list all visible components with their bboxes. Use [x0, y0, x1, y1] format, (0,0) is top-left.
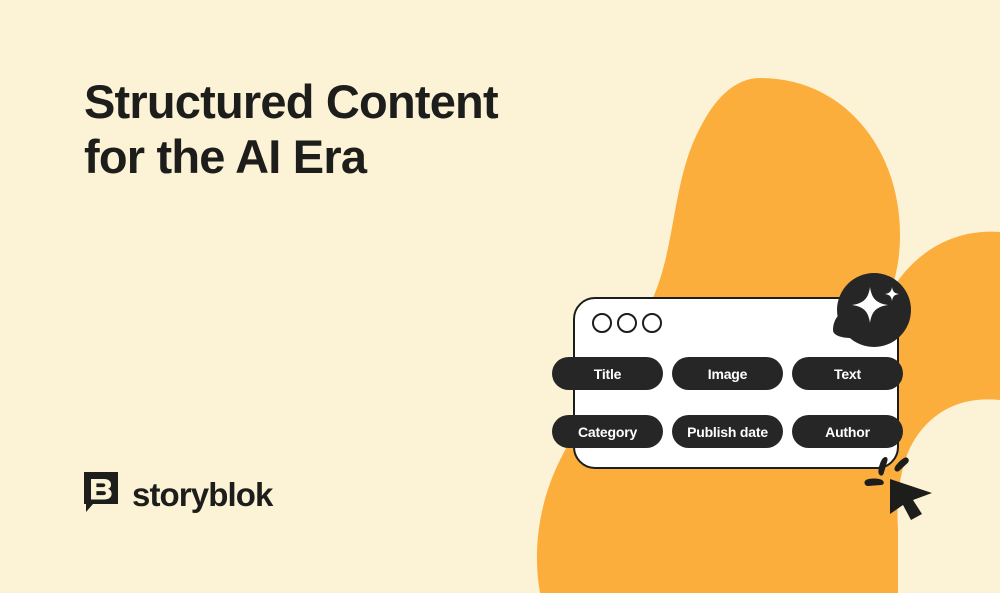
window-controls [592, 313, 662, 333]
field-pill-image[interactable]: Image [672, 357, 783, 390]
mouse-cursor-click-icon [860, 452, 938, 520]
window-dot-minimize-icon[interactable] [617, 313, 637, 333]
field-pill-publish-date[interactable]: Publish date [672, 415, 783, 448]
field-pill-row-1: Title Image Text [552, 357, 904, 390]
field-pill-text[interactable]: Text [792, 357, 903, 390]
storyblok-mark-icon [84, 472, 120, 514]
storyblok-logo[interactable]: storyblok [84, 472, 272, 514]
window-dot-maximize-icon[interactable] [642, 313, 662, 333]
promo-banner: Structured Content for the AI Era Title … [0, 0, 1000, 593]
page-headline: Structured Content for the AI Era [84, 74, 604, 184]
field-pill-row-2: Category Publish date Author [552, 415, 904, 448]
field-pill-title[interactable]: Title [552, 357, 663, 390]
field-pill-category[interactable]: Category [552, 415, 663, 448]
headline-line-2: for the AI Era [84, 129, 604, 184]
storyblok-wordmark: storyblok [132, 478, 272, 511]
field-pill-author[interactable]: Author [792, 415, 903, 448]
ai-sparkle-badge-icon[interactable] [829, 268, 913, 352]
headline-line-1: Structured Content [84, 74, 604, 129]
window-dot-close-icon[interactable] [592, 313, 612, 333]
